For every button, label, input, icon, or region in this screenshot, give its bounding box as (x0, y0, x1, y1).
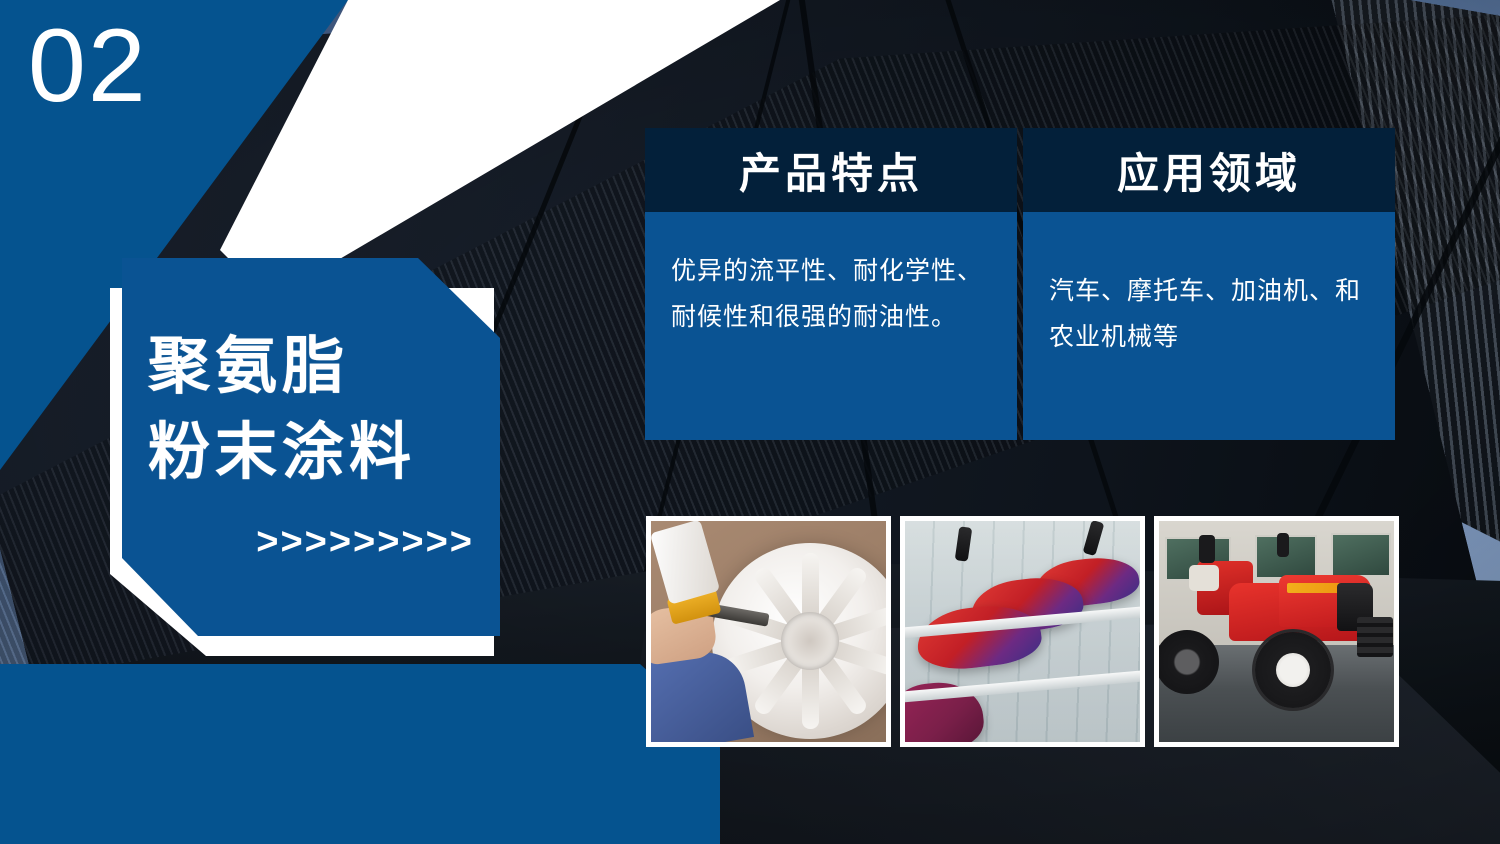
section-number: 02 (28, 14, 148, 118)
slide-canvas: 02 聚氨脂 粉末涂料 >>>>>>>>> 产品特点 优异的流平性、耐化学性、耐… (0, 0, 1500, 844)
card-product-features: 产品特点 优异的流平性、耐化学性、耐候性和很强的耐油性。 (645, 128, 1017, 440)
title-card: 聚氨脂 粉末涂料 >>>>>>>>> (122, 258, 500, 636)
tractor-wheel-rim (1276, 653, 1310, 687)
photo-red-tractor (1154, 516, 1399, 747)
tractor-seat (1189, 565, 1219, 591)
wheel-hub (781, 612, 839, 670)
card-header-label: 产品特点 (739, 140, 923, 201)
tractor-front-weights (1357, 617, 1393, 657)
card-body-product-features: 优异的流平性、耐化学性、耐候性和很强的耐油性。 (645, 212, 1017, 440)
card-header-application-fields: 应用领域 (1023, 128, 1395, 212)
title-line-1: 聚氨脂 (122, 324, 500, 410)
card-body-application-fields: 汽车、摩托车、加油机、和农业机械等 (1023, 212, 1395, 440)
tractor-decal (1287, 583, 1343, 593)
tractor-mirror (1199, 535, 1215, 563)
card-application-fields: 应用领域 汽车、摩托车、加油机、和农业机械等 (1023, 128, 1395, 440)
tractor-mirror (1277, 533, 1289, 557)
tractor-front-tyre (1255, 632, 1331, 708)
photo-wheel-image (651, 521, 886, 742)
photo-motorcycle-tanks-line (900, 516, 1145, 747)
card-header-label: 应用领域 (1117, 140, 1301, 201)
photo-wheel-powder-coating (646, 516, 891, 747)
photo-tanks-image (905, 521, 1140, 742)
title-line-2: 粉末涂料 (122, 410, 500, 496)
spray-gun-body (651, 521, 720, 605)
card-body-text: 汽车、摩托车、加油机、和农业机械等 (1049, 268, 1369, 361)
photo-row (646, 516, 1399, 747)
info-card-group: 产品特点 优异的流平性、耐化学性、耐候性和很强的耐油性。 应用领域 汽车、摩托车… (645, 128, 1395, 440)
card-header-product-features: 产品特点 (645, 128, 1017, 212)
photo-tractor-image (1159, 521, 1394, 742)
card-body-text: 优异的流平性、耐化学性、耐候性和很强的耐油性。 (671, 248, 991, 341)
window (1331, 533, 1391, 577)
chevron-arrows-icon: >>>>>>>>> (122, 521, 500, 564)
